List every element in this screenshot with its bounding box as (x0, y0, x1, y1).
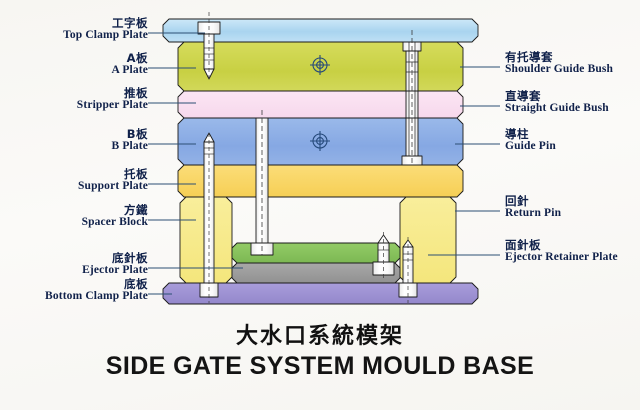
label-a-plate-en: A Plate (0, 64, 148, 76)
label-ejector-plate: 底針板 Ejector Plate (0, 252, 148, 277)
label-guide-pin-en: Guide Pin (505, 140, 640, 152)
label-b-plate-cn: B板 (0, 128, 148, 140)
label-straight-guide-bush: 直導套 Straight Guide Bush (505, 90, 640, 115)
label-support-plate-en: Support Plate (0, 180, 148, 192)
diagram-page: 工字板 Top Clamp Plate A板 A Plate 推板 Stripp… (0, 0, 640, 410)
label-shoulder-guide-bush-en: Shoulder Guide Bush (505, 63, 640, 75)
plate-stripper (178, 91, 463, 118)
label-return-pin: 回針 Return Pin (505, 195, 640, 220)
label-shoulder-guide-bush-cn: 有托導套 (505, 51, 640, 63)
label-shoulder-guide-bush: 有托導套 Shoulder Guide Bush (505, 51, 640, 76)
label-return-pin-en: Return Pin (505, 207, 640, 219)
label-straight-guide-bush-en: Straight Guide Bush (505, 102, 640, 114)
title-english: SIDE GATE SYSTEM MOULD BASE (0, 352, 640, 381)
title-chinese: 大水口系統模架 (0, 318, 640, 350)
label-ejector-plate-cn: 底針板 (0, 252, 148, 264)
label-ejector-retainer-plate-en: Ejector Retainer Plate (505, 251, 640, 263)
label-straight-guide-bush-cn: 直導套 (505, 90, 640, 102)
label-b-plate: B板 B Plate (0, 128, 148, 153)
label-a-plate-cn: A板 (0, 52, 148, 64)
label-support-plate-cn: 托板 (0, 168, 148, 180)
label-top-clamp-plate-en: Top Clamp Plate (0, 29, 148, 41)
label-return-pin-cn: 回針 (505, 195, 640, 207)
label-top-clamp-plate: 工字板 Top Clamp Plate (0, 17, 148, 42)
label-bottom-clamp-plate-cn: 底板 (0, 278, 148, 290)
label-guide-pin: 導柱 Guide Pin (505, 128, 640, 153)
label-ejector-retainer-plate-cn: 面針板 (505, 239, 640, 251)
label-spacer-block-en: Spacer Block (0, 216, 148, 228)
label-spacer-block-cn: 方鐵 (0, 204, 148, 216)
label-ejector-plate-en: Ejector Plate (0, 264, 148, 276)
plate-support (178, 165, 463, 197)
label-spacer-block: 方鐵 Spacer Block (0, 204, 148, 229)
label-guide-pin-cn: 導柱 (505, 128, 640, 140)
label-a-plate: A板 A Plate (0, 52, 148, 77)
label-stripper-plate-en: Stripper Plate (0, 99, 148, 111)
label-b-plate-en: B Plate (0, 140, 148, 152)
label-support-plate: 托板 Support Plate (0, 168, 148, 193)
label-ejector-retainer-plate: 面針板 Ejector Retainer Plate (505, 239, 640, 264)
label-stripper-plate: 推板 Stripper Plate (0, 87, 148, 112)
label-top-clamp-plate-cn: 工字板 (0, 17, 148, 29)
label-stripper-plate-cn: 推板 (0, 87, 148, 99)
diagram-title: 大水口系統模架 SIDE GATE SYSTEM MOULD BASE (0, 318, 640, 381)
label-bottom-clamp-plate-en: Bottom Clamp Plate (0, 290, 148, 302)
label-bottom-clamp-plate: 底板 Bottom Clamp Plate (0, 278, 148, 303)
